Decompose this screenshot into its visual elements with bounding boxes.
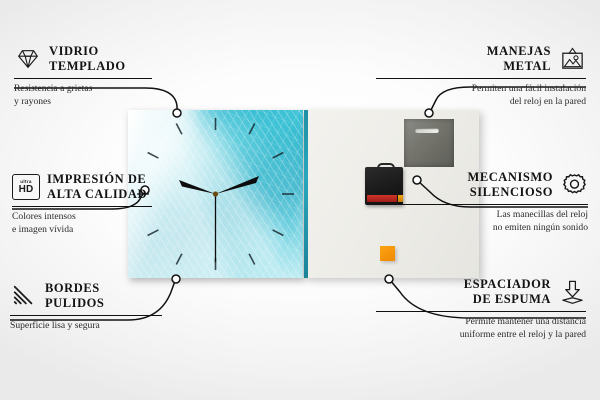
feature-impresion-alta-calidad: ultra HD IMPRESIÓN DE ALTA CALIDAD Color… xyxy=(12,172,222,237)
clock-minute-hand xyxy=(216,176,260,194)
feature-title: MECANISMO SILENCIOSO xyxy=(467,170,553,201)
infographic-canvas: VIDRIO TEMPLADO Resistencia a grietas y … xyxy=(0,0,600,400)
feature-title: ESPACIADOR DE ESPUMA xyxy=(464,277,551,308)
feature-manejas-metal: MANEJAS METAL Permiten una fácil instala… xyxy=(376,44,586,109)
feature-title: VIDRIO TEMPLADO xyxy=(49,44,126,75)
feature-description: Permite mantener una distancia uniforme … xyxy=(376,316,586,342)
feature-title: MANEJAS METAL xyxy=(487,44,551,75)
feature-description: Las manecillas del reloj no emiten ningú… xyxy=(378,209,588,235)
feature-description: Colores intensos e imagen vívida xyxy=(12,211,222,237)
ultra-hd-badge: ultra HD xyxy=(12,174,40,200)
feature-description: Superficie lisa y segura xyxy=(10,320,220,333)
picture-frame-icon xyxy=(558,45,586,73)
feature-divider xyxy=(376,78,586,80)
feature-header: ultra HD IMPRESIÓN DE ALTA CALIDAD xyxy=(12,172,222,203)
feature-divider xyxy=(376,311,586,313)
ultra-hd-icon: ultra HD xyxy=(12,173,40,201)
gear-icon xyxy=(560,171,588,199)
feature-divider xyxy=(378,204,588,206)
clock-glass-edge xyxy=(304,110,308,278)
feature-description: Resistencia a grietas y rayones xyxy=(14,83,224,109)
feature-vidrio-templado: VIDRIO TEMPLADO Resistencia a grietas y … xyxy=(14,44,224,109)
foam-spacer-pad xyxy=(380,246,395,261)
foam-spacer-icon xyxy=(558,278,586,306)
feature-bordes-pulidos: BORDES PULIDOS Superficie lisa y segura xyxy=(10,281,220,333)
feature-header: BORDES PULIDOS xyxy=(10,281,220,312)
feature-description: Permiten una fácil instalación del reloj… xyxy=(376,83,586,109)
feature-espaciador-de-espuma: ESPACIADOR DE ESPUMA Permite mantener un… xyxy=(376,277,586,342)
feature-divider xyxy=(12,206,152,208)
feature-mecanismo-silencioso: MECANISMO SILENCIOSO Las manecillas del … xyxy=(378,170,588,235)
polished-edges-icon xyxy=(10,282,38,310)
feature-header: ESPACIADOR DE ESPUMA xyxy=(376,277,586,308)
feature-header: VIDRIO TEMPLADO xyxy=(14,44,224,75)
feature-header: MANEJAS METAL xyxy=(376,44,586,75)
feature-title: BORDES PULIDOS xyxy=(45,281,104,312)
feature-divider xyxy=(10,315,162,317)
feature-header: MECANISMO SILENCIOSO xyxy=(378,170,588,201)
feature-divider xyxy=(14,78,152,80)
diamond-icon xyxy=(14,45,42,73)
hanger-slot xyxy=(415,128,439,133)
metal-hanger-plate xyxy=(404,119,454,167)
feature-title: IMPRESIÓN DE ALTA CALIDAD xyxy=(47,172,147,203)
